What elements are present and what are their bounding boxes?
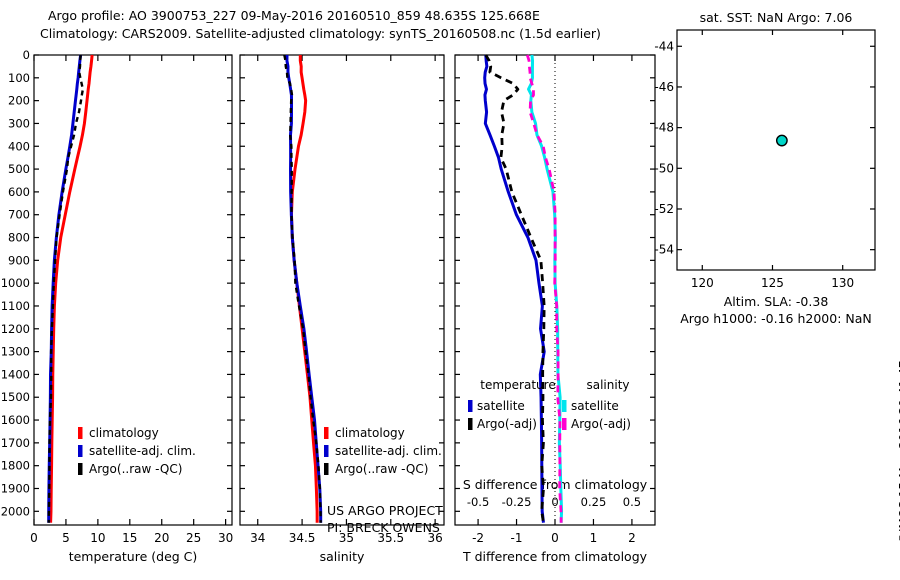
legend-swatch: [78, 463, 83, 475]
y-tick-label: 900: [8, 253, 30, 267]
salinity-profile-panel: 3434.53535.536salinityclimatologysatelli…: [232, 44, 462, 580]
x-tick-label: 130: [831, 276, 854, 290]
temperature-profile-panel: 0100200300400500600700800900100011001200…: [0, 44, 240, 580]
x-tick-label-s: 0.25: [581, 495, 607, 509]
y-tick-label: 1100: [1, 299, 30, 313]
legend-title-salinity: salinity: [586, 378, 629, 392]
x-tick-label: 125: [761, 276, 784, 290]
legend-swatch: [78, 445, 83, 457]
legend-swatch: [562, 418, 567, 430]
sst-map-title: sat. SST: NaN Argo: 7.06: [700, 10, 853, 25]
x-axis-label-s: S difference from climatology: [463, 477, 648, 492]
y-tick-label: -46: [654, 80, 674, 94]
y-tick-label: 1500: [1, 390, 30, 404]
y-tick-label: 100: [8, 71, 30, 85]
legend-swatch: [78, 427, 83, 439]
x-tick-label: 15: [122, 531, 137, 545]
legend-label: climatology: [89, 426, 159, 440]
x-axis-label: temperature (deg C): [69, 549, 198, 564]
y-tick-label: -50: [654, 161, 674, 175]
difference-profile-panel: -2-1012T difference from climatology-0.5…: [450, 44, 665, 580]
legend-swatch: [562, 400, 567, 412]
x-tick-label: 0: [30, 531, 38, 545]
pi-label: PI: BRECK OWENS: [327, 520, 440, 535]
x-tick-label: 34: [250, 531, 265, 545]
legend-label: satellite: [477, 399, 525, 413]
legend-swatch: [324, 463, 329, 475]
legend-swatch: [324, 445, 329, 457]
legend-label: satellite: [571, 399, 619, 413]
legend-label: Argo(-adj): [477, 417, 537, 431]
legend-swatch: [324, 427, 329, 439]
x-tick-label-s: -0.25: [502, 495, 532, 509]
y-tick-label: -48: [654, 121, 674, 135]
x-tick-label: 5: [62, 531, 70, 545]
y-tick-label: 1000: [1, 276, 30, 290]
y-tick-label: 1200: [1, 322, 30, 336]
legend-title-temperature: temperature: [480, 378, 555, 392]
legend-label: satellite-adj. clim.: [89, 444, 196, 458]
y-tick-label: 0: [23, 48, 30, 62]
x-tick-label: 30: [218, 531, 233, 545]
x-tick-label-s: -0.5: [467, 495, 489, 509]
y-tick-label: 1900: [1, 481, 30, 495]
y-tick-label: -54: [654, 243, 674, 257]
x-tick-label: 20: [154, 531, 169, 545]
x-tick-label-t: 2: [628, 531, 636, 545]
copyright-label: ©IMOS 15-May-2016 20:41:47: [884, 378, 900, 558]
x-axis-label-t: T difference from climatology: [462, 549, 648, 564]
legend-swatch: [468, 400, 473, 412]
sst-map-frame: [677, 30, 875, 270]
altimetry-title: Argo h1000: -0.16 h2000: NaN: [680, 311, 872, 326]
y-tick-label: 400: [8, 139, 30, 153]
x-tick-label: 10: [90, 531, 105, 545]
x-axis-label: salinity: [320, 549, 365, 564]
x-tick-label: 34.5: [289, 531, 316, 545]
y-tick-label: 200: [8, 94, 30, 108]
y-tick-label: 1700: [1, 436, 30, 450]
y-tick-label: 1300: [1, 345, 30, 359]
legend-swatch: [468, 418, 473, 430]
y-tick-label: 1600: [1, 413, 30, 427]
x-tick-label-s: 0.5: [623, 495, 641, 509]
legend-label: Argo(..raw -QC): [89, 462, 182, 476]
x-tick-label-t: -1: [511, 531, 523, 545]
x-tick-label: 25: [186, 531, 201, 545]
argo-position-marker[interactable]: [777, 135, 787, 145]
project-label: US ARGO PROJECT: [327, 503, 443, 518]
sst-map-panel: sat. SST: NaN Argo: 7.06-44-46-48-50-52-…: [655, 8, 900, 328]
x-tick-label-t: 1: [590, 531, 598, 545]
legend-label: Argo(-adj): [571, 417, 631, 431]
y-tick-label: 1400: [1, 367, 30, 381]
y-tick-label: 600: [8, 185, 30, 199]
x-tick-label-t: 0: [551, 531, 559, 545]
altimetry-map-panel: [655, 328, 900, 580]
x-tick-label-t: -2: [472, 531, 484, 545]
legend-label: satellite-adj. clim.: [335, 444, 442, 458]
x-tick-label-s: 0: [551, 495, 558, 509]
y-tick-label: 800: [8, 231, 30, 245]
header-line-2: Climatology: CARS2009. Satellite-adjuste…: [40, 26, 601, 41]
altimetry-subtitle: Altim. SLA: -0.38: [724, 294, 829, 309]
y-tick-label: 2000: [1, 504, 30, 518]
header-line-1: Argo profile: AO 3900753_227 09-May-2016…: [48, 8, 540, 23]
y-tick-label: 500: [8, 162, 30, 176]
y-tick-label: 300: [8, 116, 30, 130]
x-tick-label: 120: [691, 276, 714, 290]
legend-label: climatology: [335, 426, 405, 440]
y-tick-label: 700: [8, 208, 30, 222]
y-tick-label: -44: [654, 39, 674, 53]
y-tick-label: 1800: [1, 459, 30, 473]
y-tick-label: -52: [654, 202, 674, 216]
legend-label: Argo(..raw -QC): [335, 462, 428, 476]
